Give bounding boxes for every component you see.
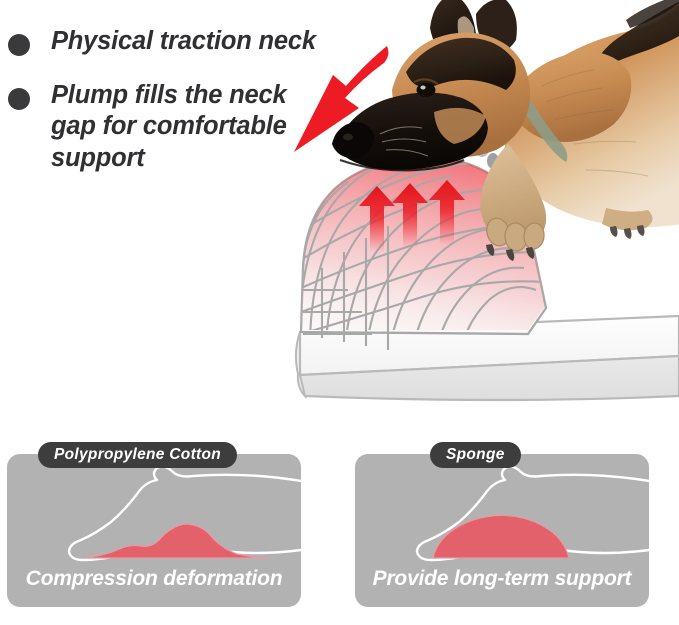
feature-bullet-item: Plump fills the neck gap for comfortable… <box>0 80 330 175</box>
nostril-icon <box>343 134 353 141</box>
eye-highlight <box>420 86 425 90</box>
dog-eye <box>417 83 436 97</box>
comparison-panel-sponge: Provide long-term support <box>355 454 649 607</box>
material-comparison-section: Compression deformation Provide long-ter… <box>0 440 679 625</box>
dog-rear-paw <box>602 208 653 239</box>
hero-section: Physical traction neck Plump fills the n… <box>0 0 679 430</box>
german-shepherd-photo <box>330 0 679 264</box>
supportive-cushion-shape <box>433 515 569 558</box>
material-badge-sponge: Sponge <box>430 442 521 468</box>
feature-bullet-text: Plump fills the neck gap for comfortable… <box>51 80 323 175</box>
panel-caption-left: Compression deformation <box>7 567 301 591</box>
feature-bullet-list: Physical traction neck Plump fills the n… <box>0 26 330 196</box>
panel-caption-right: Provide long-term support <box>355 567 649 591</box>
feature-bullet-text: Physical traction neck <box>51 26 316 58</box>
bullet-dot-icon <box>8 88 30 110</box>
bullet-dot-icon <box>8 34 30 56</box>
feature-bullet-item: Physical traction neck <box>0 26 330 58</box>
comparison-panel-polypropylene: Compression deformation <box>7 454 301 607</box>
material-badge-polypropylene: Polypropylene Cotton <box>38 442 237 468</box>
